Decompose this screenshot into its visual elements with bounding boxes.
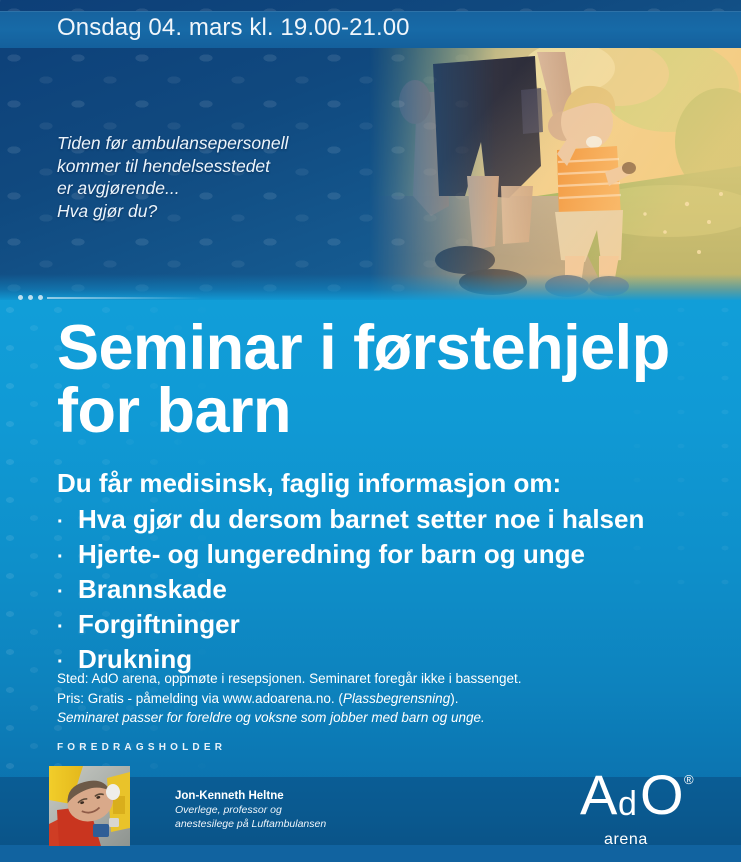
logo-letter-a: A — [580, 767, 616, 823]
topics-lead-text: Du får medisinsk, faglig informasjon om: — [57, 468, 561, 499]
headline-line-1: Seminar i førstehjelp — [57, 317, 717, 380]
list-item-label: Hjerte- og lungeredning for barn og unge — [78, 538, 585, 570]
details-text: Sted: AdO arena, oppmøte i resepsjonen. … — [57, 669, 677, 728]
intro-line-1: Tiden før ambulansepersonell — [57, 132, 387, 155]
divider-dot — [28, 295, 33, 300]
intro-line-3: er avgjørende... — [57, 177, 387, 200]
list-item-label: Forgiftninger — [78, 608, 240, 640]
details-audience: Seminaret passer for foreldre og voksne … — [57, 708, 677, 728]
bullet-icon: · — [57, 506, 78, 538]
list-item: · Hjerte- og lungeredning for barn og un… — [57, 538, 697, 573]
ado-arena-logo: A d O ® arena — [578, 773, 708, 853]
details-price: Pris: Gratis - påmelding via www.adoaren… — [57, 689, 677, 709]
registered-trademark-icon: ® — [684, 773, 694, 786]
speaker-portrait — [49, 766, 130, 846]
logo-wordmark: arena — [604, 831, 648, 849]
logo-mark: A d O ® — [578, 773, 708, 827]
divider-dot — [18, 295, 23, 300]
headline-line-2: for barn — [57, 380, 717, 443]
bullet-icon: · — [57, 576, 78, 608]
details-price-suffix: ). — [450, 691, 458, 706]
divider-dots — [18, 295, 218, 301]
list-item-label: Hva gjør du dersom barnet setter noe i h… — [78, 503, 644, 535]
bullet-icon: · — [57, 541, 78, 573]
intro-text: Tiden før ambulansepersonell kommer til … — [57, 132, 387, 222]
list-item: · Brannskade — [57, 573, 697, 608]
list-item-label: Brannskade — [78, 573, 227, 605]
speaker-section-label: FOREDRAGSHOLDER — [57, 742, 226, 753]
details-location: Sted: AdO arena, oppmøte i resepsjonen. … — [57, 669, 677, 689]
details-price-prefix: Pris: Gratis - påmelding via www.adoaren… — [57, 691, 343, 706]
date-text: Onsdag 04. mars kl. 19.00-21.00 — [57, 14, 410, 42]
logo-letter-o: O — [640, 767, 684, 823]
speaker-role: Overlege, professor og anestesilege på L… — [175, 804, 326, 831]
logo-letter-d: d — [618, 787, 637, 821]
intro-line-2: kommer til hendelsesstedet — [57, 155, 387, 178]
poster-root: Tiden før ambulansepersonell kommer til … — [0, 0, 741, 862]
topics-list: · Hva gjør du dersom barnet setter noe i… — [57, 503, 697, 678]
list-item: · Forgiftninger — [57, 608, 697, 643]
bullet-icon: · — [57, 611, 78, 643]
divider-rule — [47, 297, 202, 299]
date-bar: Onsdag 04. mars kl. 19.00-21.00 — [0, 11, 741, 48]
page-title: Seminar i førstehjelp for barn — [57, 317, 717, 443]
hero-photo-father-and-child — [369, 46, 741, 300]
speaker-role-line-1: Overlege, professor og — [175, 804, 326, 818]
intro-line-4: Hva gjør du? — [57, 200, 387, 223]
list-item: · Hva gjør du dersom barnet setter noe i… — [57, 503, 697, 538]
speaker-role-line-2: anestesilege på Luftambulansen — [175, 818, 326, 832]
details-price-emphasis: Plassbegrensning — [343, 691, 450, 706]
divider-dot — [38, 295, 43, 300]
speaker-name: Jon-Kenneth Heltne — [175, 790, 284, 802]
